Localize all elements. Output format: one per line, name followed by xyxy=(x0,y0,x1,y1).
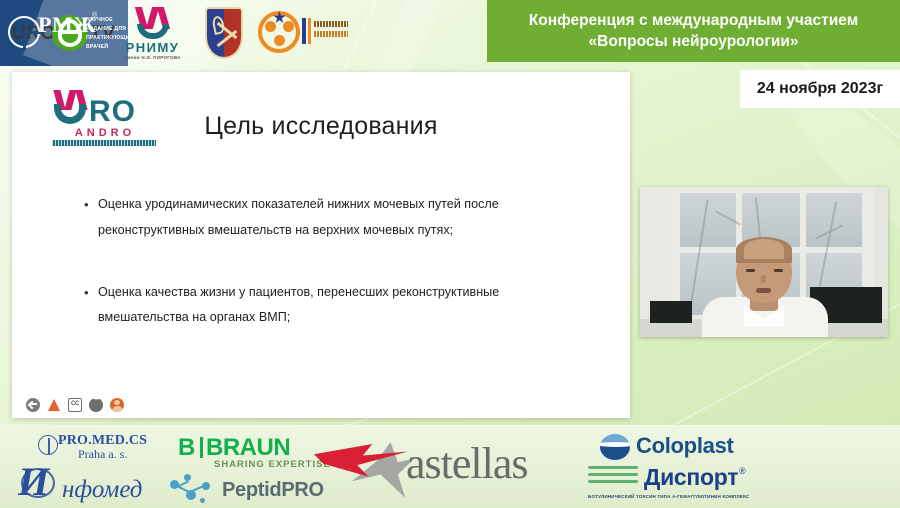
speaker-video-feed[interactable] xyxy=(640,187,888,337)
bullet-text: Оценка уродинамических показателей нижни… xyxy=(98,192,584,244)
bullet-marker: • xyxy=(84,280,98,332)
shield-emblem-logo xyxy=(205,7,243,59)
coloplast-text: Coloplast xyxy=(636,433,734,459)
bullet-marker: • xyxy=(84,192,98,244)
bbraun-word-1: B xyxy=(178,434,195,462)
slide-surface[interactable]: RO ANDRO Цель исследования • Оценка урод… xyxy=(12,72,630,418)
orange-text-placeholder-icon xyxy=(314,21,348,27)
video-monitor-left xyxy=(650,301,692,323)
speaker-eye xyxy=(746,269,755,272)
disport-wave-icon xyxy=(588,466,638,490)
participant-avatar-icon[interactable] xyxy=(110,398,124,412)
bullet-text: Оценка качества жизни у пациентов, перен… xyxy=(98,280,584,332)
sponsor-logo-astellas: astellas xyxy=(310,434,575,504)
sponsor-logo-promedcs: PRO.MED.CS Praha a. s. xyxy=(38,432,153,462)
orange-bar-icon xyxy=(302,18,306,44)
disport-subtitle: БОТУЛИНИЧЕСКИЙ ТОКСИН ТИПА А-ГЕМАГГЛЮТИН… xyxy=(588,494,768,499)
conference-date-badge: 24 ноября 2023г xyxy=(740,70,900,108)
promedcs-line-2: Praha a. s. xyxy=(78,447,127,462)
speaker-forehead xyxy=(744,239,784,259)
bbraun-divider-icon xyxy=(200,437,203,458)
orange-bar-icon xyxy=(308,18,311,44)
promedcs-mark-icon xyxy=(38,435,58,455)
orange-dot-icon xyxy=(283,21,294,32)
closed-caption-icon[interactable]: CC xyxy=(68,398,82,412)
sponsor-logo-disport: Диспорт ® БОТУЛИНИЧЕСКИЙ ТОКСИН ТИПА А-Г… xyxy=(588,464,763,508)
speaker-mouth xyxy=(756,288,771,293)
banner-line-2: «Вопросы нейроурологии» xyxy=(589,31,799,52)
sponsor-strip: PRO.MED.CS Praha a. s. И нфомед B BRAUN … xyxy=(0,425,900,508)
infomed-text: нфомед xyxy=(62,476,142,504)
disport-registered-mark: ® xyxy=(739,466,746,476)
astellas-text: astellas xyxy=(406,442,528,486)
speaker-nose xyxy=(761,275,766,283)
rmg-mark-icon xyxy=(8,12,42,52)
more-options-icon[interactable] xyxy=(89,398,103,412)
slide-control-bar[interactable]: CC xyxy=(26,398,124,412)
orange-dot-icon xyxy=(274,35,285,46)
page-header: URO TV РНИМУ имени Н.И. ПИРОГОВА xyxy=(0,0,900,70)
conference-banner: Конференция с международным участием «Во… xyxy=(487,0,900,62)
sponsor-logo-infomed: И нфомед xyxy=(18,462,168,506)
rmg-subtitle: НАУЧНОЕ ИЗДАНИЕ ДЛЯ ПРАКТИКУЮЩИХ ВРАЧЕЙ xyxy=(86,16,130,52)
infomed-initial: И xyxy=(18,462,49,502)
coloplast-mark-icon xyxy=(600,434,630,460)
shield-icon xyxy=(205,7,243,59)
slide-title: Цель исследования xyxy=(12,112,630,141)
traffic-cone-icon[interactable] xyxy=(47,398,61,412)
rnimu-u-mark-icon xyxy=(137,24,169,39)
rnimu-logo-subtitle: имени Н.И. ПИРОГОВА xyxy=(105,55,200,60)
disport-text: Диспорт xyxy=(644,464,738,491)
molecule-icon xyxy=(170,474,214,506)
back-arrow-icon[interactable] xyxy=(26,398,40,412)
window-pane xyxy=(806,193,862,247)
list-item: • Оценка уродинамических показателей ниж… xyxy=(84,192,584,244)
orange-dot-icon xyxy=(265,21,276,32)
list-item: • Оценка качества жизни у пациентов, пер… xyxy=(84,280,584,332)
peptidpro-text: PeptidPRO xyxy=(222,479,324,502)
banner-line-1: Конференция с международным участием xyxy=(529,10,858,31)
sponsor-logo-coloplast: Coloplast xyxy=(600,432,750,464)
orange-text-placeholder-icon xyxy=(314,31,348,37)
speaker-eye xyxy=(774,269,783,272)
orange-emblem-logo xyxy=(258,9,348,57)
slide-bullet-list: • Оценка уродинамических показателей ниж… xyxy=(84,192,584,367)
astellas-arrow-icon xyxy=(310,438,420,496)
presentation-viewer: URO TV РНИМУ имени Н.И. ПИРОГОВА xyxy=(0,0,900,508)
bbraun-word-2: BRAUN xyxy=(206,434,290,462)
